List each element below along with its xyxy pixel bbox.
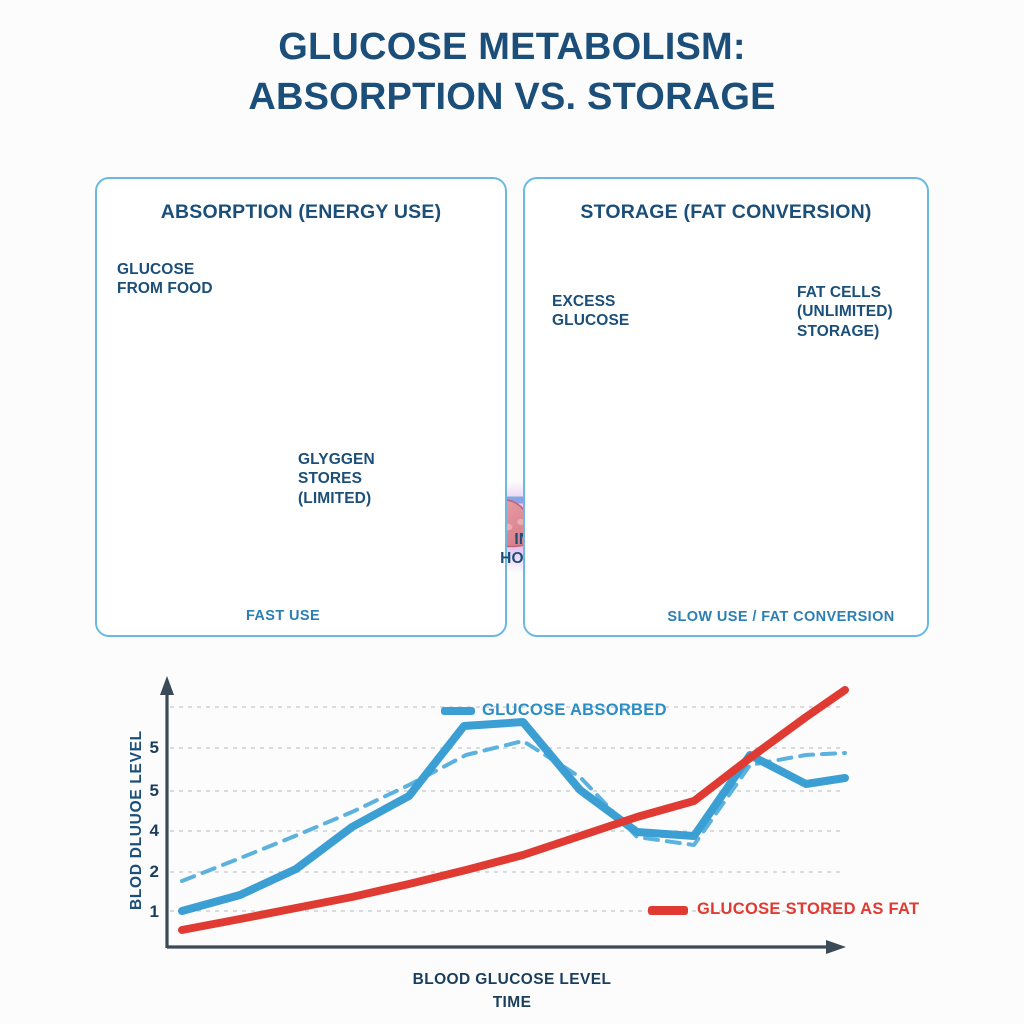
y-tick-2: 2 [135, 862, 159, 882]
y-tick-4: 5 [135, 781, 159, 801]
glucose-from-food-label: GLUCOSE FROM FOOD [117, 260, 213, 299]
legend-swatch-glucose-absorbed [441, 707, 475, 715]
y-tick-1: 1 [135, 902, 159, 922]
page-title-line-2: ABSORPTION VS. STORAGE [0, 72, 1024, 122]
x-caption-line-2: TIME [0, 991, 1024, 1014]
chart-x-axis-caption: BLOOD GLUCOSE LEVEL TIME [0, 968, 1024, 1015]
storage-panel-title: STORAGE (FAT CONVERSION) [525, 201, 927, 224]
fast-use-caption: FAST USE [188, 608, 378, 624]
y-tick-5: 5 [135, 738, 159, 758]
y-tick-3: 4 [135, 821, 159, 841]
storage-panel: STORAGE (FAT CONVERSION) [523, 177, 929, 637]
legend-label-glucose-absorbed: GLUCOSE ABSORBED [482, 701, 667, 720]
glycogen-stores-label: GLYGGEN STORES (LIMITED) [298, 450, 375, 508]
excess-glucose-label: EXCESS GLUCOSE [552, 292, 629, 331]
absorption-panel-title: ABSORPTION (ENERGY USE) [97, 201, 505, 224]
page-title: GLUCOSE METABOLISM: ABSORPTION VS. STORA… [0, 22, 1024, 122]
legend-swatch-glucose-stored-as-fat [648, 906, 688, 915]
fat-cells-label: FAT CELLS (UNLIMITED) STORAGE) [797, 283, 893, 341]
slow-use-caption: SLOW USE / FAT CONVERSION [636, 609, 926, 625]
absorption-panel: ABSORPTION (ENERGY USE) [95, 177, 507, 637]
page-title-line-1: GLUCOSE METABOLISM: [0, 22, 1024, 72]
x-caption-line-1: BLOOD GLUCOSE LEVEL [0, 968, 1024, 991]
legend-label-glucose-stored-as-fat: GLUCOSE STORED AS FAT [697, 900, 919, 919]
